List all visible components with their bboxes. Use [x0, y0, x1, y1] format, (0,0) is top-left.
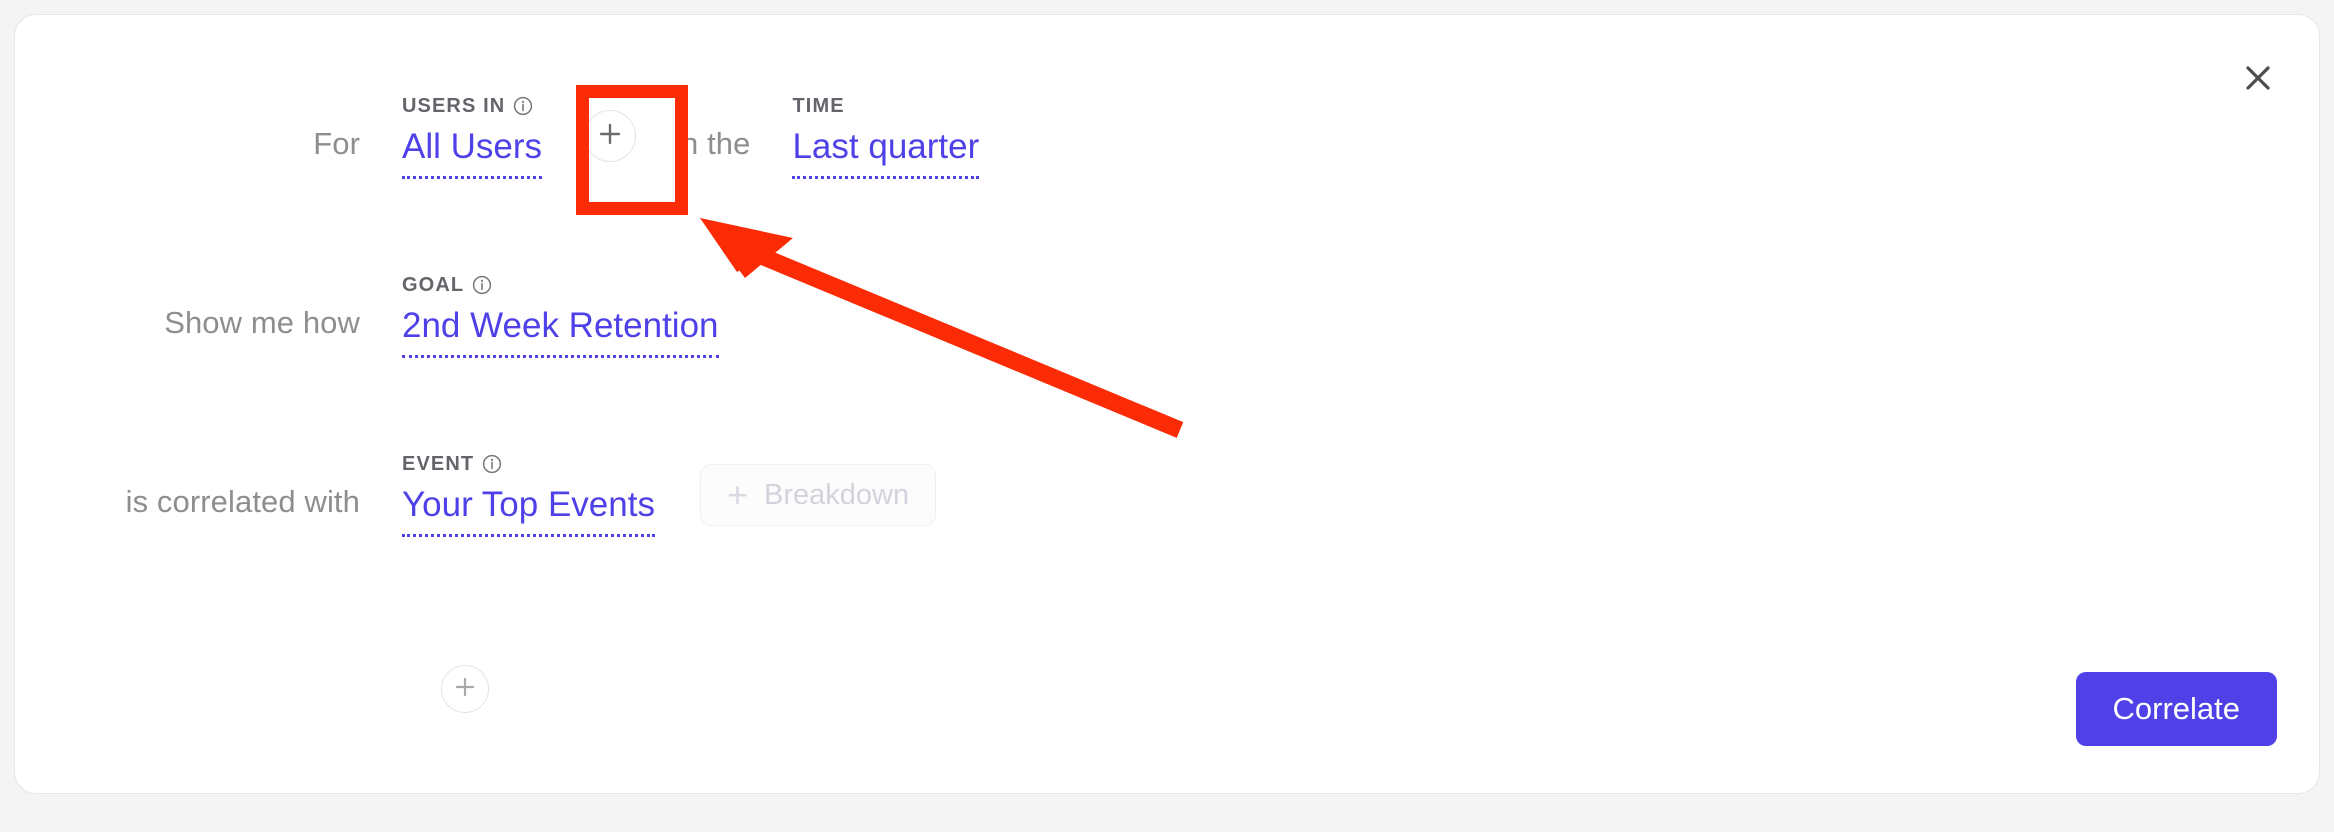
info-icon[interactable]	[472, 275, 492, 295]
field-goal: GOAL 2nd Week Retention	[402, 274, 719, 368]
query-rows: For USERS IN All Users	[15, 73, 2319, 547]
info-icon[interactable]	[482, 454, 502, 474]
add-users-filter-button[interactable]	[584, 110, 636, 162]
field-label-event: EVENT	[402, 453, 502, 476]
correlation-query-card: For USERS IN All Users	[14, 14, 2320, 794]
query-row-goal: Show me how GOAL 2nd Week Retention	[15, 252, 2319, 368]
field-label-text: EVENT	[402, 453, 474, 476]
plus-icon	[453, 675, 477, 704]
field-event: EVENT Your Top Events	[402, 453, 655, 547]
field-value-time[interactable]: Last quarter	[792, 127, 979, 179]
row-lead-for: For	[15, 126, 360, 189]
field-label-goal: GOAL	[402, 274, 492, 297]
row-lead-show-me-how: Show me how	[15, 305, 360, 368]
row-connector-in-the: in the	[674, 126, 750, 189]
field-value-event[interactable]: Your Top Events	[402, 485, 655, 537]
screen: For USERS IN All Users	[0, 0, 2334, 832]
field-label-text: GOAL	[402, 274, 464, 297]
info-icon[interactable]	[513, 96, 533, 116]
field-value-goal[interactable]: 2nd Week Retention	[402, 306, 719, 358]
field-users-in: USERS IN All Users	[402, 95, 542, 189]
field-value-users-in[interactable]: All Users	[402, 127, 542, 179]
add-breakdown-label: Breakdown	[764, 479, 909, 512]
field-label-text: USERS IN	[402, 95, 505, 118]
query-row-users: For USERS IN All Users	[15, 73, 2319, 189]
field-label-users-in: USERS IN	[402, 95, 533, 118]
field-label-text: TIME	[792, 95, 844, 118]
add-breakdown-button[interactable]: + Breakdown	[700, 464, 936, 526]
plus-icon: +	[727, 477, 748, 513]
query-row-event: is correlated with EVENT Your Top Event	[15, 431, 2319, 547]
plus-icon	[597, 121, 623, 152]
add-query-row-button[interactable]	[441, 665, 489, 713]
correlate-button[interactable]: Correlate	[2076, 672, 2278, 746]
field-label-time: TIME	[792, 95, 844, 118]
row-lead-is-correlated-with: is correlated with	[15, 484, 360, 547]
field-time: TIME Last quarter	[792, 95, 979, 189]
